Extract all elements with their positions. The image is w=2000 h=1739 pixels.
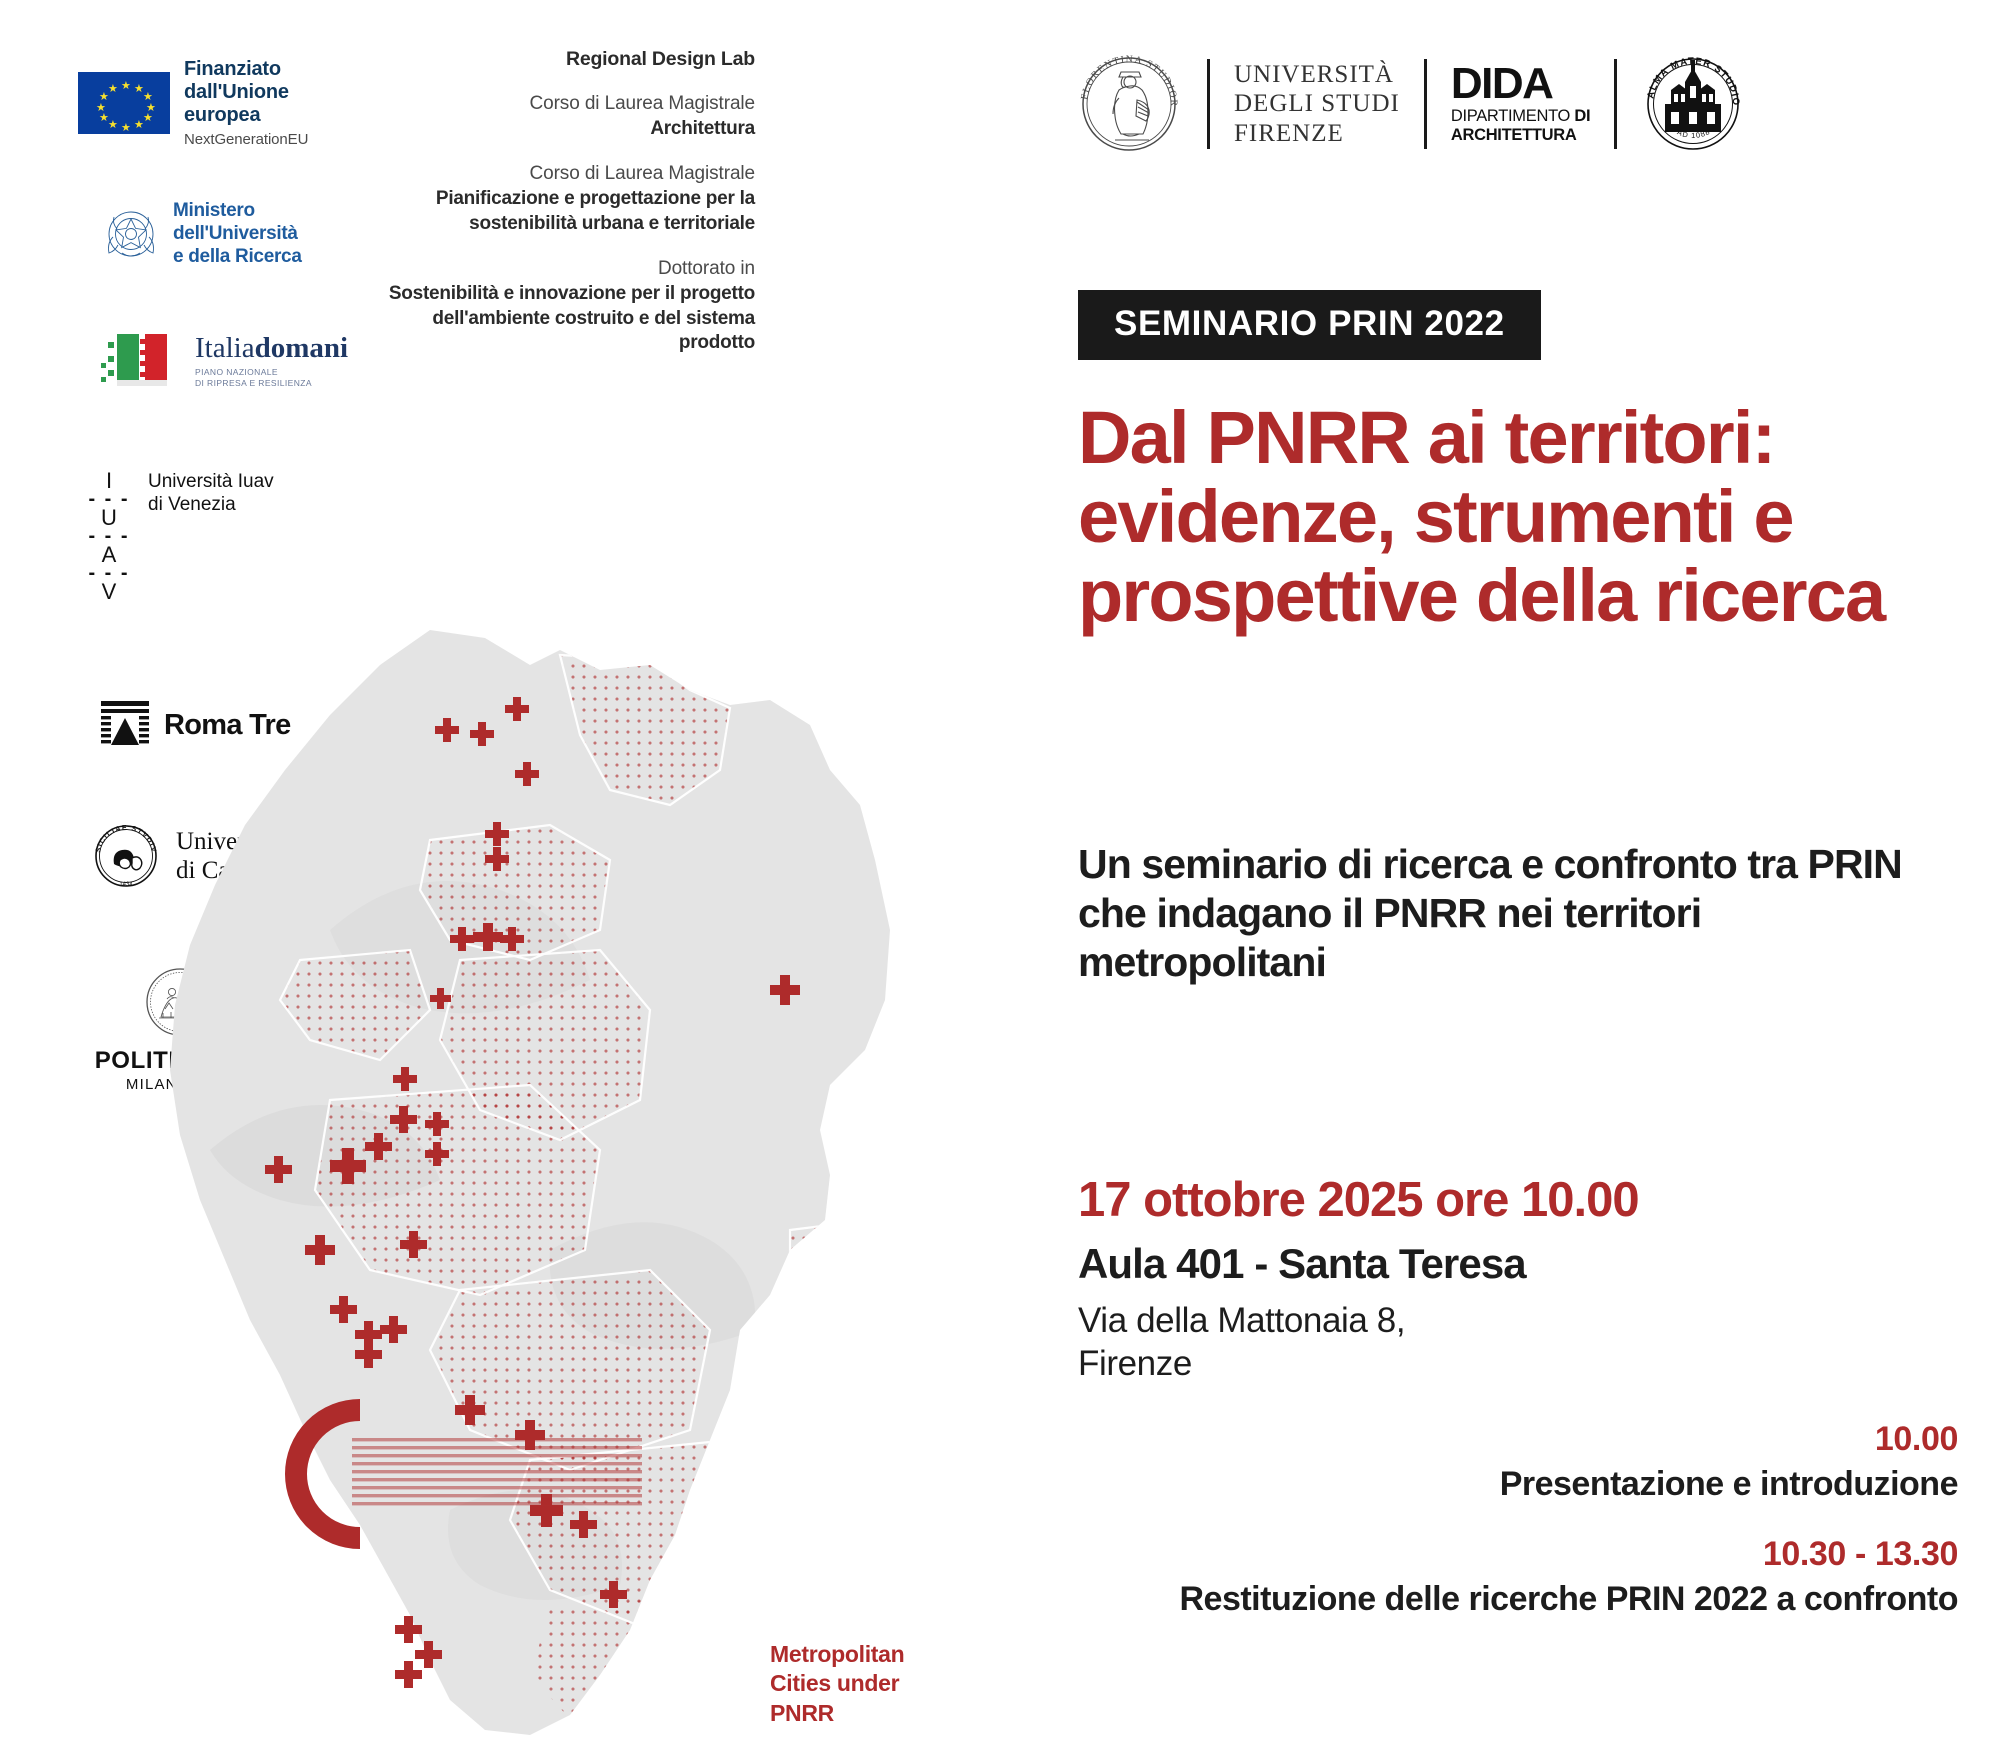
ministero-line1: Ministero [173,200,255,221]
course-group-architettura: Corso di Laurea Magistrale Architettura [380,91,755,141]
schedule-item-desc: Presentazione e introduzione [938,1464,1958,1505]
strip-divider-2 [1424,59,1427,149]
map-legend-line3: PNRR [770,1700,834,1726]
poster-canvas: ★ ★ ★ ★ ★ ★ ★ ★ ★ ★ ★ ★ Finanziatodall'U… [0,0,2000,1739]
course-group-dottorato: Dottorato in Sostenibilità e innovazione… [380,256,755,356]
eu-funding-logo: ★ ★ ★ ★ ★ ★ ★ ★ ★ ★ ★ ★ Finanziatodall'U… [78,58,360,148]
unifi-line1: UNIVERSITÀ [1234,60,1400,90]
iuav-letter-v: V [86,581,132,603]
schedule-item: 10.00 Presentazione e introduzione [938,1420,1958,1505]
university-logo-strip: FLORENTINA STUDIORUM UNIVERSITÀ DEGLI ST [1075,50,1745,158]
schedule-item: 10.30 - 13.30 Restituzione delle ricerch… [938,1535,1958,1620]
event-address: Via della Mattonaia 8, Firenze [1078,1300,1678,1385]
strip-divider-1 [1207,59,1210,149]
alma-mater-seal-icon: ALMA MATER STUDIORUM AD 1088 [1641,52,1745,156]
dida-sub-light: DIPARTIMENTO [1451,107,1575,125]
schedule-item-desc: Restituzione delle ricerche PRIN 2022 a … [938,1579,1958,1620]
event-address-line2: Firenze [1078,1344,1192,1383]
eu-logo-sub: NextGenerationEU [184,131,360,148]
courses-block: Regional Design Lab Corso di Laurea Magi… [380,48,755,356]
svg-text:FLORENTINA STUDIORUM: FLORENTINA STUDIORUM [1075,50,1179,107]
unifi-line2: DEGLI STUDI [1234,89,1400,119]
dida-sub-line2: ARCHITETTURA [1451,126,1590,145]
strip-divider-3 [1614,59,1617,149]
unifi-wordmark: UNIVERSITÀ DEGLI STUDI FIRENZE [1234,60,1400,149]
course-0-kind: Corso di Laurea Magistrale [380,91,755,117]
map-legend-line1: Metropolitan [770,1641,904,1667]
schedule-list: 10.00 Presentazione e introduzione 10.30… [938,1420,1958,1650]
event-venue: Aula 401 - Santa Teresa [1078,1240,1526,1288]
course-0-name-line1: Architettura [380,117,755,142]
iuav-line1: Università Iuav [148,471,274,492]
regional-design-lab-label: Regional Design Lab [380,48,755,71]
course-2-kind: Dottorato in [380,256,755,282]
italian-republic-emblem-icon [100,201,162,267]
unifi-line3: FIRENZE [1234,119,1400,149]
iuav-line2: di Venezia [148,494,236,515]
eu-logo-line1: Finanziato [184,58,281,80]
dida-acronym: DIDA [1451,63,1590,105]
ministero-line2: dell'Università [173,223,298,244]
eu-flag-icon: ★ ★ ★ ★ ★ ★ ★ ★ ★ ★ ★ ★ [78,72,170,134]
event-date: 17 ottobre 2025 ore 10.00 [1078,1172,1639,1228]
event-subtitle: Un seminario di ricerca e confronto tra … [1078,840,1918,988]
dida-logo: DIDA DIPARTIMENTO DI ARCHITETTURA [1451,63,1590,146]
italia-domani-light: Italia [195,332,255,364]
italia-domani-bold: domani [255,332,348,364]
dida-sub-bold: DI [1574,107,1590,125]
map-legend-line2: Cities under [770,1670,899,1696]
map-legend-label: Metropolitan Cities under PNRR [770,1640,980,1728]
iuav-logo: I - - - U - - - A - - - V Università Iua… [86,470,274,603]
seminar-badge: SEMINARIO PRIN 2022 [1078,290,1541,360]
schedule-item-time: 10.30 - 13.30 [938,1535,1958,1574]
italia-domani-sub1: PIANO NAZIONALE [195,367,278,377]
course-2-name-line2: dell'ambiente costruito e del sistema [380,307,755,332]
iuav-mark-icon: I - - - U - - - A - - - V [86,470,132,603]
course-2-name-line1: Sostenibilità e innovazione per il proge… [380,282,755,307]
unifi-seal-icon: FLORENTINA STUDIORUM [1075,50,1183,158]
course-1-kind: Corso di Laurea Magistrale [380,161,755,187]
event-address-line1: Via della Mattonaia 8, [1078,1301,1405,1340]
page-title: Dal PNRR ai territori: evidenze, strumen… [1078,398,1958,636]
italia-domani-sub2: DI RIPRESA E RESILIENZA [195,378,312,388]
ministero-logo: Ministero dell'Università e della Ricerc… [100,200,302,268]
course-group-pianificazione: Corso di Laurea Magistrale Pianificazion… [380,161,755,236]
course-1-name-line1: Pianificazione e progettazione per la [380,187,755,212]
italy-metropolitan-map [130,630,960,1739]
schedule-item-time: 10.00 [938,1420,1958,1459]
course-2-name-line3: prodotto [380,331,755,356]
course-1-name-line2: sostenibilità urbana e territoriale [380,212,755,237]
italia-domani-logo: Italiadomani PIANO NAZIONALE DI RIPRESA … [95,330,348,392]
eu-logo-line2: dall'Unione europea [184,81,289,126]
ministero-line3: e della Ricerca [173,246,302,267]
italia-domani-flag-icon [95,330,187,392]
